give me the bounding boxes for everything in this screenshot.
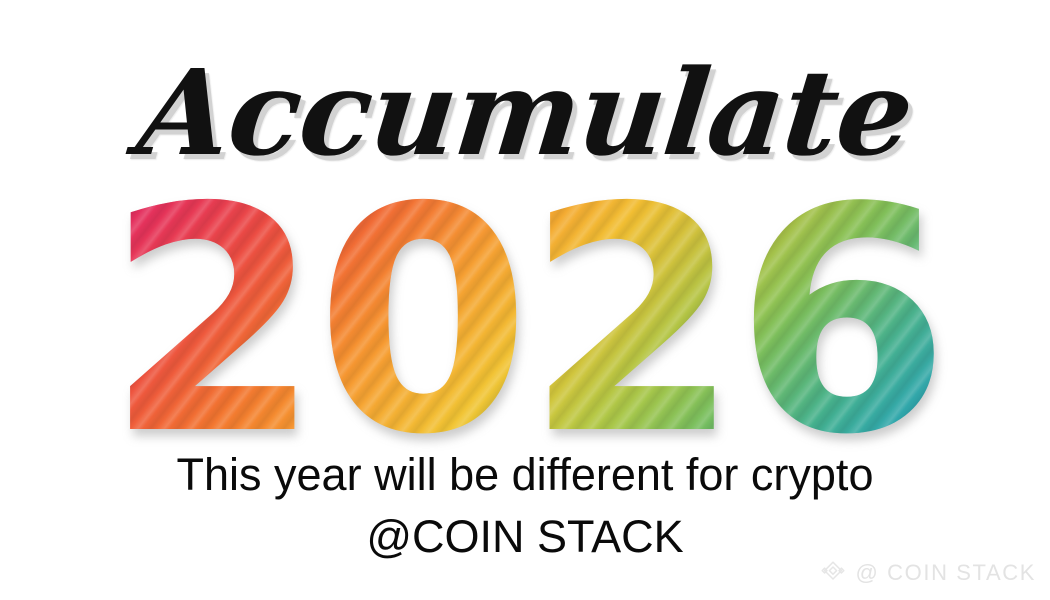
- watermark-label: @ COIN STACK: [856, 560, 1036, 586]
- subtitle-container: This year will be different for crypto @…: [0, 444, 1050, 568]
- subtitle-line-tagline: This year will be different for crypto: [0, 444, 1050, 506]
- year-container: 2026 2026: [0, 168, 1050, 430]
- poster-canvas: Accumulate 2026 2026 This year will be d…: [0, 0, 1050, 600]
- watermark: @ COIN STACK: [818, 558, 1036, 588]
- year-display: 2026: [106, 168, 945, 478]
- binance-diamond-logo-icon: [818, 558, 848, 588]
